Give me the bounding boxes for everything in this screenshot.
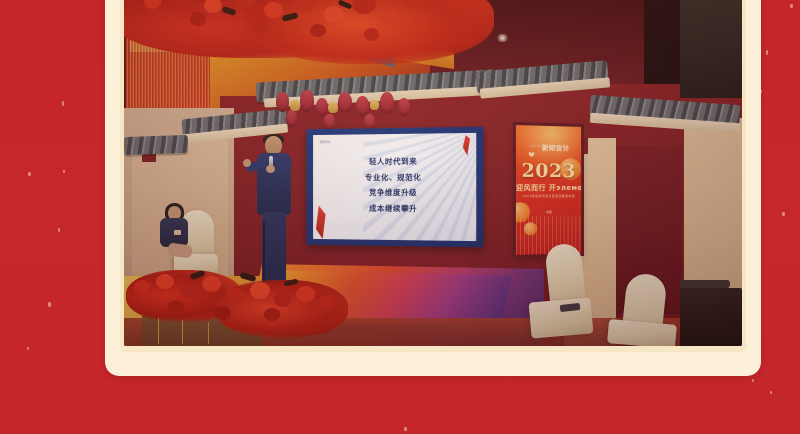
flower-blossom — [310, 24, 326, 37]
flower-blossom — [180, 284, 197, 298]
lantern-icon — [300, 90, 314, 112]
lantern-icon — [316, 98, 328, 116]
lantern-icon — [356, 96, 369, 116]
equipment-case — [680, 288, 742, 346]
lantern-icon — [276, 92, 289, 112]
backdrop-speckle — [770, 391, 772, 394]
flower-stem — [208, 322, 209, 344]
tile-eave-lower-left — [124, 135, 188, 155]
flower-blossom — [156, 274, 174, 289]
slide-line: 轻人时代到来 — [313, 153, 476, 170]
flower-blossom — [168, 300, 184, 313]
ceiling-spotlight — [496, 34, 509, 42]
flower-stem — [158, 318, 159, 344]
flower-blossom — [134, 280, 150, 294]
attendee-phone — [174, 230, 181, 235]
equipment-cable — [680, 280, 730, 288]
pa-speaker-box — [680, 0, 742, 98]
slide-header-text: 新知会计 — [320, 140, 331, 144]
banner-slogan: 迎风而行 开элемент启新篇 — [516, 183, 581, 193]
lantern-icon — [328, 102, 338, 113]
speaker-trousers — [262, 212, 286, 284]
flower-blossom — [380, 10, 399, 26]
lantern-icon — [286, 110, 297, 127]
backdrop-speckle — [782, 212, 785, 216]
banner-meta: 2023年度新知会计集团战略发布会 — [516, 194, 581, 198]
keynote-speaker — [252, 136, 296, 286]
backdrop-speckle — [27, 347, 29, 350]
seated-attendee — [152, 206, 204, 268]
flower-blossom — [264, 308, 280, 321]
slide-surface: 新知会计 轻人时代到来 专业化、规范化 竞争维度升级 成本继续攀升 — [313, 133, 476, 241]
slide-line: 竞争维度升级 — [313, 185, 476, 201]
flower-blossom — [274, 292, 292, 307]
flower-blossom — [318, 296, 335, 310]
speaker-left-hand — [243, 159, 251, 167]
backdrop-speckle — [766, 50, 768, 55]
slide-line: 专业化、规范化 — [313, 169, 476, 185]
backdrop-speckle — [28, 172, 31, 176]
flower-blossom — [214, 306, 231, 320]
speaker-right-hand — [266, 165, 275, 173]
flower-blossom — [252, 18, 269, 32]
speaker-leg-split — [263, 222, 265, 282]
flower-blossom — [190, 12, 206, 26]
flower-blossom — [250, 282, 270, 299]
lantern-icon — [338, 92, 352, 113]
slide-body: 轻人时代到来 专业化、规范化 竞争维度升级 成本继续攀升 — [313, 153, 476, 216]
event-photo[interactable]: 新知会计 轻人时代到来 专业化、规范化 竞争维度升级 成本继续攀升 新知会计 — [124, 0, 742, 346]
backdrop-speckle — [63, 170, 65, 173]
backdrop-speckle — [48, 302, 51, 307]
flower-blossom — [364, 28, 379, 41]
led-presentation-screen[interactable]: 新知会计 轻人时代到来 专业化、规范化 竞争维度升级 成本继续攀升 — [306, 127, 483, 248]
flower-blossom — [264, 2, 283, 18]
banquet-chair-seat — [529, 297, 594, 338]
flower-blossom — [226, 288, 244, 303]
backdrop-speckle — [752, 379, 754, 382]
banquet-chair-seat — [607, 319, 677, 346]
banner-year: 2023 — [516, 160, 581, 183]
backdrop-speckle — [58, 228, 60, 232]
flower-stem — [182, 320, 183, 344]
attendee-legs — [167, 242, 193, 258]
flower-blossom — [296, 286, 315, 302]
event-kv-banner[interactable]: 新知会计 XIN ZHI ACCOUNTING 2023 迎风而行 开элеме… — [516, 125, 581, 255]
banner-city: 成都 — [516, 210, 581, 215]
backdrop-speckle — [790, 4, 793, 8]
lantern-icon — [370, 100, 379, 110]
lantern-icon — [398, 98, 410, 116]
lantern-icon — [380, 92, 394, 114]
flower-blossom — [324, 6, 344, 23]
flower-blossom — [202, 276, 221, 292]
lantern-icon — [324, 114, 335, 130]
backdrop-speckle — [62, 101, 64, 106]
slide-line: 成本继续攀升 — [313, 200, 476, 216]
backdrop-speckle — [404, 427, 407, 431]
